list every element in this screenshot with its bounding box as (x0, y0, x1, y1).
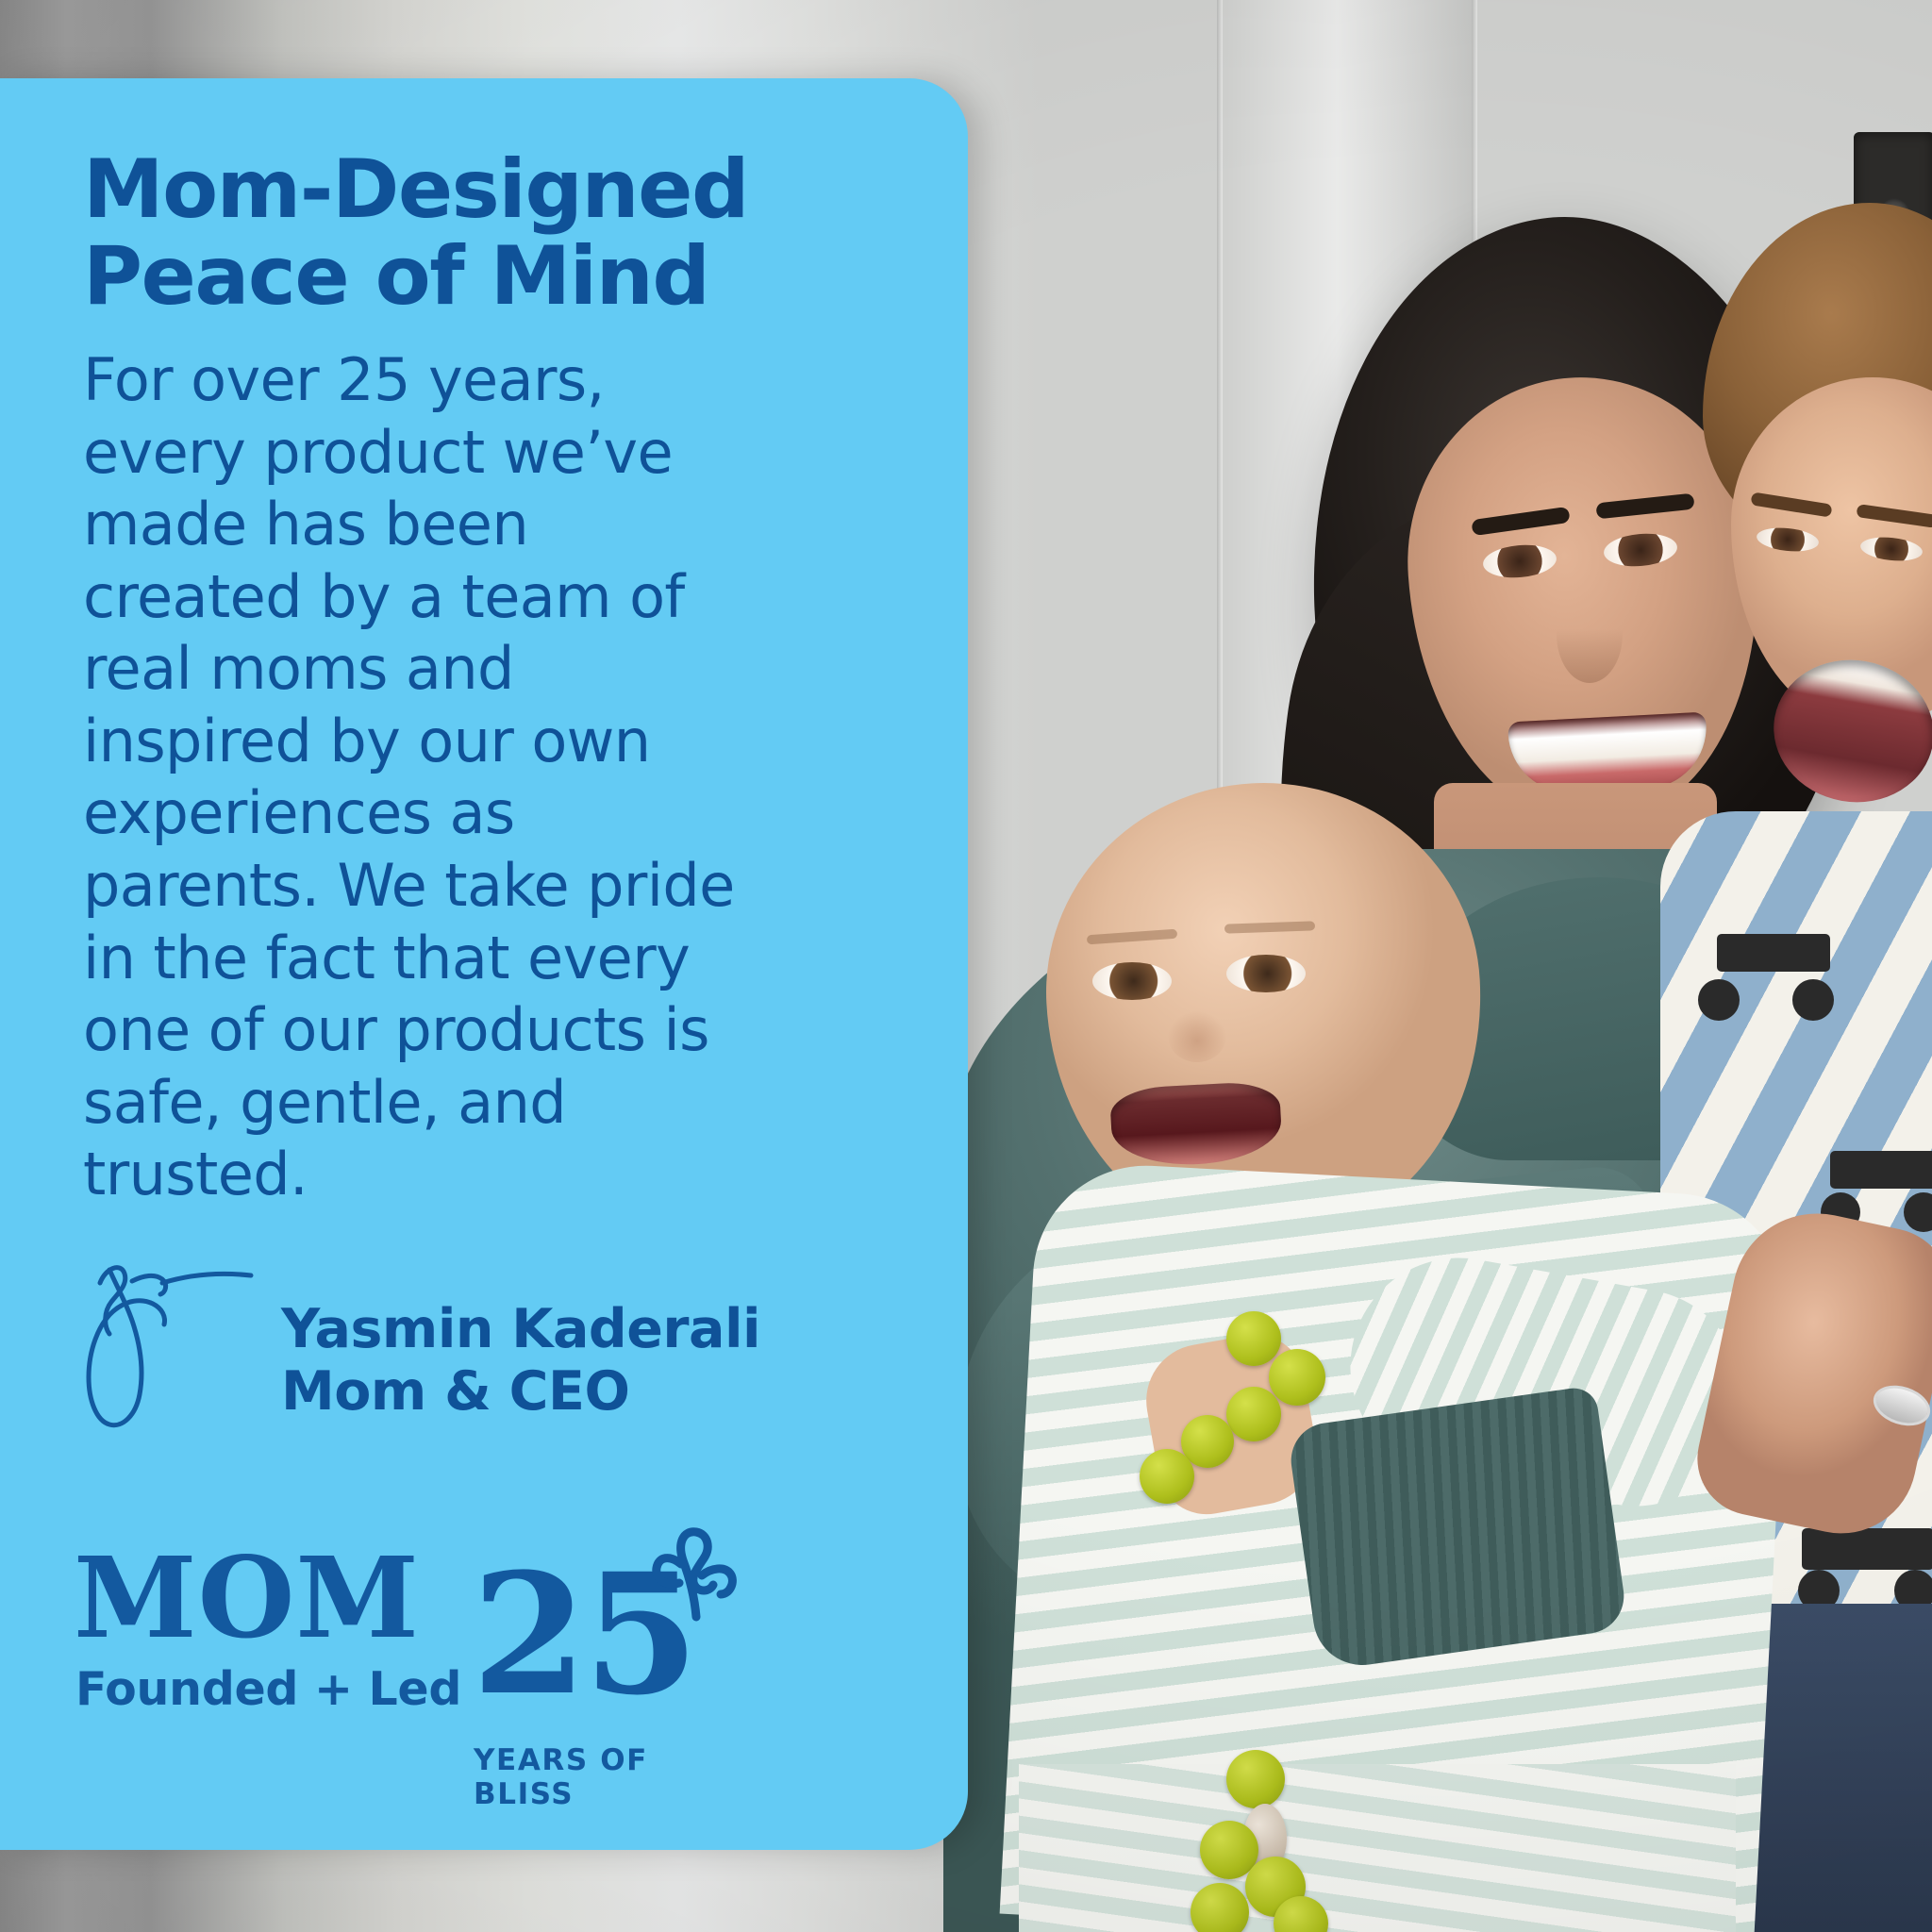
anniversary-badge: 25 YEARS OF BLISS (472, 1549, 745, 1785)
signatory-name: Yasmin Kaderali (281, 1298, 760, 1360)
handwritten-signature-icon (75, 1253, 302, 1470)
logo-row: MOM Founded + Led 25 YEARS OF BLISS (74, 1545, 923, 1828)
mom-founded-led-logo: MOM Founded + Led (74, 1545, 461, 1715)
signature-block: Yasmin Kaderali Mom & CEO (75, 1253, 906, 1470)
mom-wordmark: MOM (74, 1545, 461, 1651)
anniversary-caption: YEARS OF BLISS (474, 1743, 745, 1811)
body-paragraph: For over 25 years, every product we’ve m… (83, 344, 743, 1211)
copy-card: Mom-Designed Peace of Mind For over 25 y… (0, 78, 968, 1850)
signatory-title: Mom & CEO (281, 1360, 760, 1423)
butterfly-flourish-icon (649, 1523, 753, 1634)
mom-tagline: Founded + Led (75, 1664, 461, 1715)
promo-graphic: Mom-Designed Peace of Mind For over 25 y… (0, 0, 1932, 1932)
card-content: Mom-Designed Peace of Mind For over 25 y… (83, 146, 913, 1211)
signature-attribution: Yasmin Kaderali Mom & CEO (281, 1298, 760, 1423)
page-title: Mom-Designed Peace of Mind (83, 146, 866, 320)
